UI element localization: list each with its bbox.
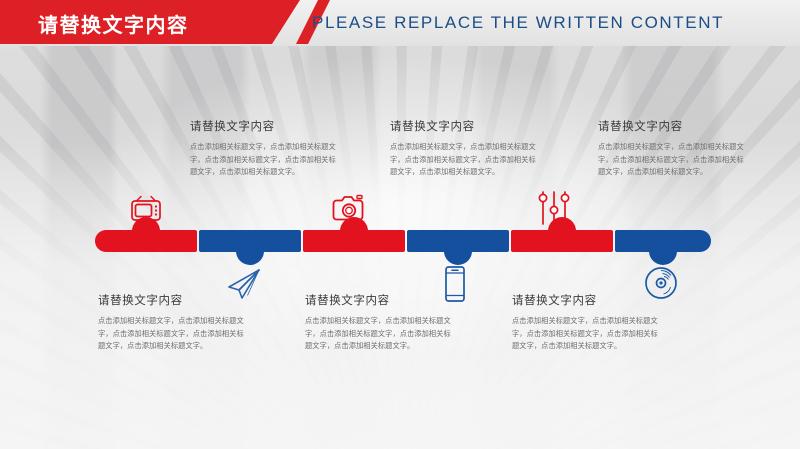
smartphone-icon[interactable]	[433, 262, 477, 306]
upper-text-block-1: 请替换文字内容 点击添加相关标题文字，点击添加相关标题文字，点击添加相关标题文字…	[190, 118, 342, 179]
background-photo	[0, 0, 800, 449]
camera-icon[interactable]	[327, 187, 371, 231]
upper-heading-1: 请替换文字内容	[190, 118, 342, 134]
upper-heading-3: 请替换文字内容	[598, 118, 750, 134]
upper-body-3: 点击添加相关标题文字，点击添加相关标题文字，点击添加相关标题文字，点击添加相关标…	[598, 141, 750, 179]
sliders-icon[interactable]	[532, 186, 576, 230]
compact-disc-icon[interactable]	[639, 261, 683, 305]
upper-body-1: 点击添加相关标题文字，点击添加相关标题文字，点击添加相关标题文字，点击添加相关标…	[190, 141, 342, 179]
lower-body-2: 点击添加相关标题文字，点击添加相关标题文字，点击添加相关标题文字，点击添加相关标…	[305, 315, 457, 353]
header-title-english: PLEASE REPLACE THE WRITTEN CONTENT	[312, 13, 724, 33]
upper-text-block-2: 请替换文字内容 点击添加相关标题文字，点击添加相关标题文字，点击添加相关标题文字…	[390, 118, 542, 179]
lower-body-1: 点击添加相关标题文字，点击添加相关标题文字，点击添加相关标题文字，点击添加相关标…	[98, 315, 250, 353]
upper-text-block-3: 请替换文字内容 点击添加相关标题文字，点击添加相关标题文字，点击添加相关标题文字…	[598, 118, 750, 179]
header-title-chinese: 请替换文字内容	[38, 9, 189, 38]
lower-body-3: 点击添加相关标题文字，点击添加相关标题文字，点击添加相关标题文字，点击添加相关标…	[512, 315, 664, 353]
slide-header: 请替换文字内容 PLEASE REPLACE THE WRITTEN CONTE…	[0, 0, 800, 46]
paper-plane-icon[interactable]	[222, 262, 266, 306]
upper-body-2: 点击添加相关标题文字，点击添加相关标题文字，点击添加相关标题文字，点击添加相关标…	[390, 141, 542, 179]
upper-heading-2: 请替换文字内容	[390, 118, 542, 134]
tv-icon[interactable]	[124, 188, 168, 232]
slide-canvas: 请替换文字内容 PLEASE REPLACE THE WRITTEN CONTE…	[0, 0, 800, 449]
